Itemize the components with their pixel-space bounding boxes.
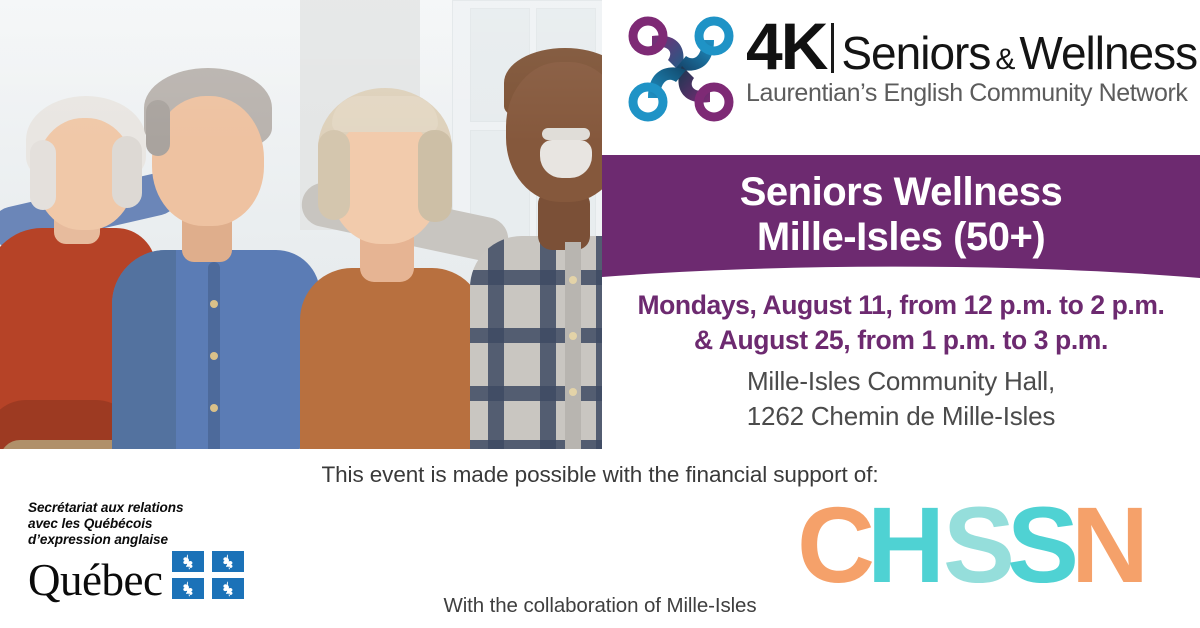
right-column: 4K Seniors & Wellness Laurentian’s Engli… [602,0,1200,449]
brand-wellness: Wellness [1019,30,1197,76]
network-logo-icon [622,10,740,128]
event-date-line1: Mondays, August 11, from 12 p.m. to 2 p.… [602,288,1200,323]
svg-text:S: S [943,494,1015,604]
svg-text:N: N [1071,494,1149,604]
seniors-group-photo [0,0,602,449]
event-venue-line2: 1262 Chemin de Mille-Isles [602,399,1200,434]
brand-divider [831,23,834,73]
event-date-line2: & August 25, from 1 p.m. to 3 p.m. [602,323,1200,358]
quebec-flag-grid [172,551,244,599]
brand-tagline: Laurentian’s English Community Network [746,79,1197,108]
event-title-banner: Seniors Wellness Mille-Isles (50+) [602,155,1200,281]
svg-text:S: S [1007,494,1079,604]
chssn-logo: C H S S N [795,494,1185,604]
event-title-line1: Seniors Wellness [740,170,1063,215]
quebec-secretariat-line2: avec les Québécois [28,516,288,532]
photo-overlay [0,0,602,449]
top-section: 4K Seniors & Wellness Laurentian’s Engli… [0,0,1200,450]
brand-logo: 4K Seniors & Wellness Laurentian’s Engli… [622,10,1188,140]
quebec-secretariat-line3: d’expression anglaise [28,532,288,548]
svg-text:H: H [867,494,945,604]
event-details: Mondays, August 11, from 12 p.m. to 2 p.… [602,288,1200,434]
fleur-de-lis-icon [172,551,204,572]
quebec-secretariat-line1: Secrétariat aux relations [28,500,288,516]
financial-support-text: This event is made possible with the fin… [0,462,1200,488]
sponsors-section: This event is made possible with the fin… [0,450,1200,628]
brand-ampersand: & [995,45,1014,75]
brand-seniors: Seniors [841,30,990,76]
svg-text:C: C [797,494,875,604]
brand-4k: 4K [746,16,826,77]
brand-wordmark: 4K Seniors & Wellness Laurentian’s Engli… [746,10,1197,108]
fleur-de-lis-icon [212,551,244,572]
poster: 4K Seniors & Wellness Laurentian’s Engli… [0,0,1200,628]
collaboration-text: With the collaboration of Mille-Isles [0,594,1200,618]
event-venue-line1: Mille-Isles Community Hall, [602,364,1200,399]
event-title-line2: Mille-Isles (50+) [757,215,1045,260]
